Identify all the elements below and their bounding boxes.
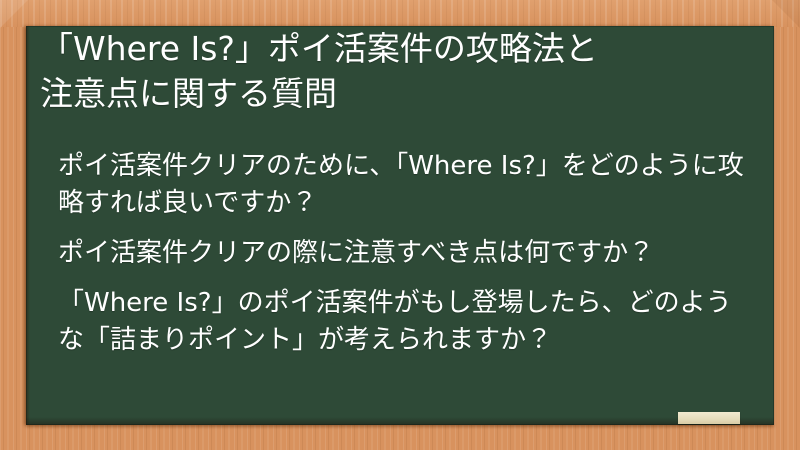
frame-miter-corner-right bbox=[772, 0, 800, 28]
wooden-frame: 「Where Is?」ポイ活案件の攻略法と 注意点に関する質問 ポイ活案件クリア… bbox=[0, 0, 800, 450]
frame-top-highlight bbox=[0, 0, 800, 27]
chalk-stick-icon bbox=[678, 412, 740, 424]
frame-miter-corner-left bbox=[0, 0, 28, 28]
chalkboard-surface bbox=[26, 26, 774, 425]
